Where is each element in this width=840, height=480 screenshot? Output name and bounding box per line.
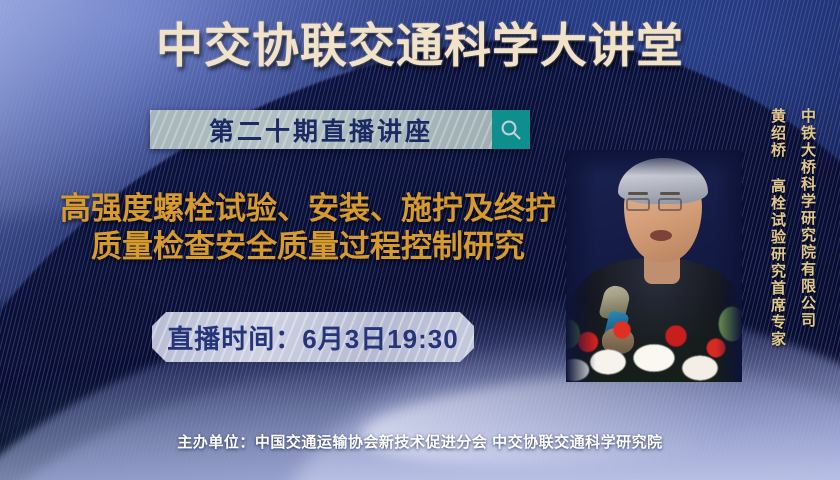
photo-eyebrow-left (628, 192, 648, 195)
photo-fade-right (716, 150, 742, 382)
organizer-footer: 主办单位：中国交通运输协会新技术促进分会 中交协联交通科学研究院 (0, 431, 840, 452)
search-icon (499, 118, 523, 142)
speaker-organization: 中铁大桥科学研究院有限公司 (797, 108, 818, 329)
speaker-name-role: 黄绍桥 高栓试验研究首席专家 (767, 108, 788, 348)
speaker-photo (566, 150, 742, 382)
episode-search-bar[interactable]: 第二十期直播讲座 (150, 110, 530, 149)
lecture-headline: 高强度螺栓试验、安装、施拧及终拧 质量检查安全质量过程控制研究 (8, 190, 608, 266)
headline-line-2: 质量检查安全质量过程控制研究 (8, 228, 608, 266)
photo-glasses-left (626, 198, 650, 211)
photo-eyebrow-right (660, 192, 680, 195)
search-input[interactable]: 第二十期直播讲座 (150, 110, 492, 149)
photo-fade-left (566, 150, 596, 382)
broadcast-time-label: 直播时间：6月3日19:30 (167, 319, 458, 356)
poster-canvas: 中交协联交通科学大讲堂 第二十期直播讲座 高强度螺栓试验、安装、施拧及终拧 质量… (0, 0, 840, 480)
broadcast-time-badge: 直播时间：6月3日19:30 (152, 312, 474, 362)
headline-line-1: 高强度螺栓试验、安装、施拧及终拧 (8, 190, 608, 228)
page-title: 中交协联交通科学大讲堂 (0, 22, 840, 69)
search-input-value: 第二十期直播讲座 (209, 112, 433, 148)
search-button[interactable] (492, 110, 530, 149)
photo-glasses-right (658, 198, 682, 211)
photo-mouth (650, 230, 672, 241)
